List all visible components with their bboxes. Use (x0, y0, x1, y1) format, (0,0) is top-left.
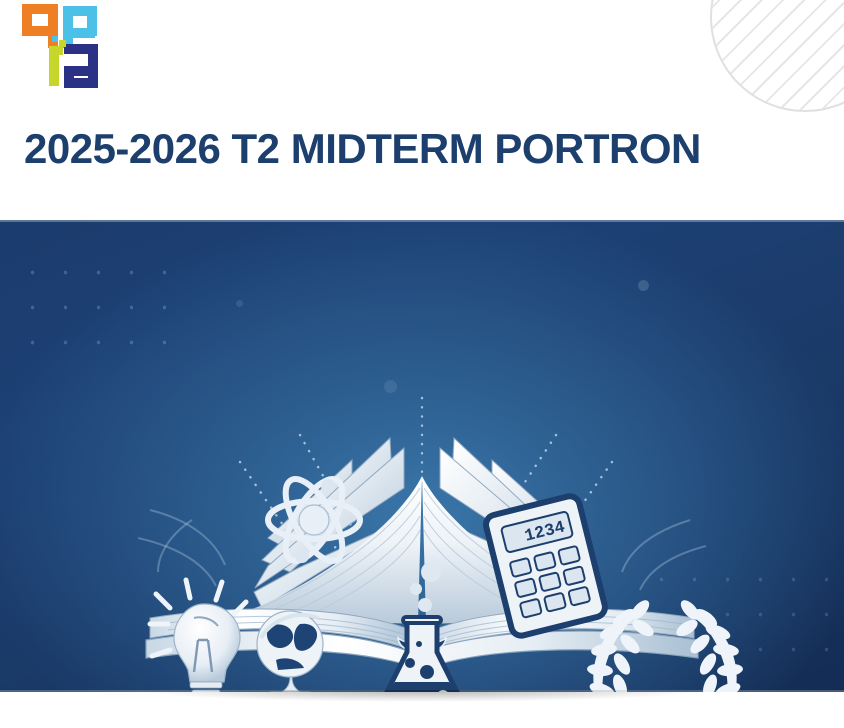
gpta-logo[interactable] (18, 2, 102, 90)
flask-bubble (421, 562, 441, 582)
banner-drop-shadow (0, 690, 844, 716)
page-title: 2025-2026 T2 MIDTERM PORTRON (24, 128, 824, 170)
logo-accent-lime (59, 40, 66, 47)
flask-bubble (418, 598, 432, 612)
poster-page: 2025-2026 T2 MIDTERM PORTRON (0, 0, 844, 728)
lightbulb-glass (174, 604, 240, 682)
flask-bubble (410, 583, 422, 595)
globe-icon (257, 611, 323, 692)
atom-electron (295, 549, 309, 563)
logo-accent-cyan (52, 36, 58, 42)
hatch-pattern (712, 0, 844, 110)
logo-glyph-navy (64, 44, 98, 88)
logo-glyph-cyan (63, 6, 97, 48)
education-illustration: 1234 (0, 220, 844, 692)
logo-glyph-lime (49, 46, 63, 86)
atom-electron (321, 479, 335, 493)
hero-banner: 1234 (0, 220, 844, 692)
header: 2025-2026 T2 MIDTERM PORTRON (0, 0, 844, 220)
flask-neck-rim (403, 617, 441, 623)
atom-nucleus (299, 505, 329, 535)
swoosh-decorations (138, 510, 706, 590)
logo-mark (18, 2, 102, 90)
corner-circle-decoration (710, 0, 844, 112)
